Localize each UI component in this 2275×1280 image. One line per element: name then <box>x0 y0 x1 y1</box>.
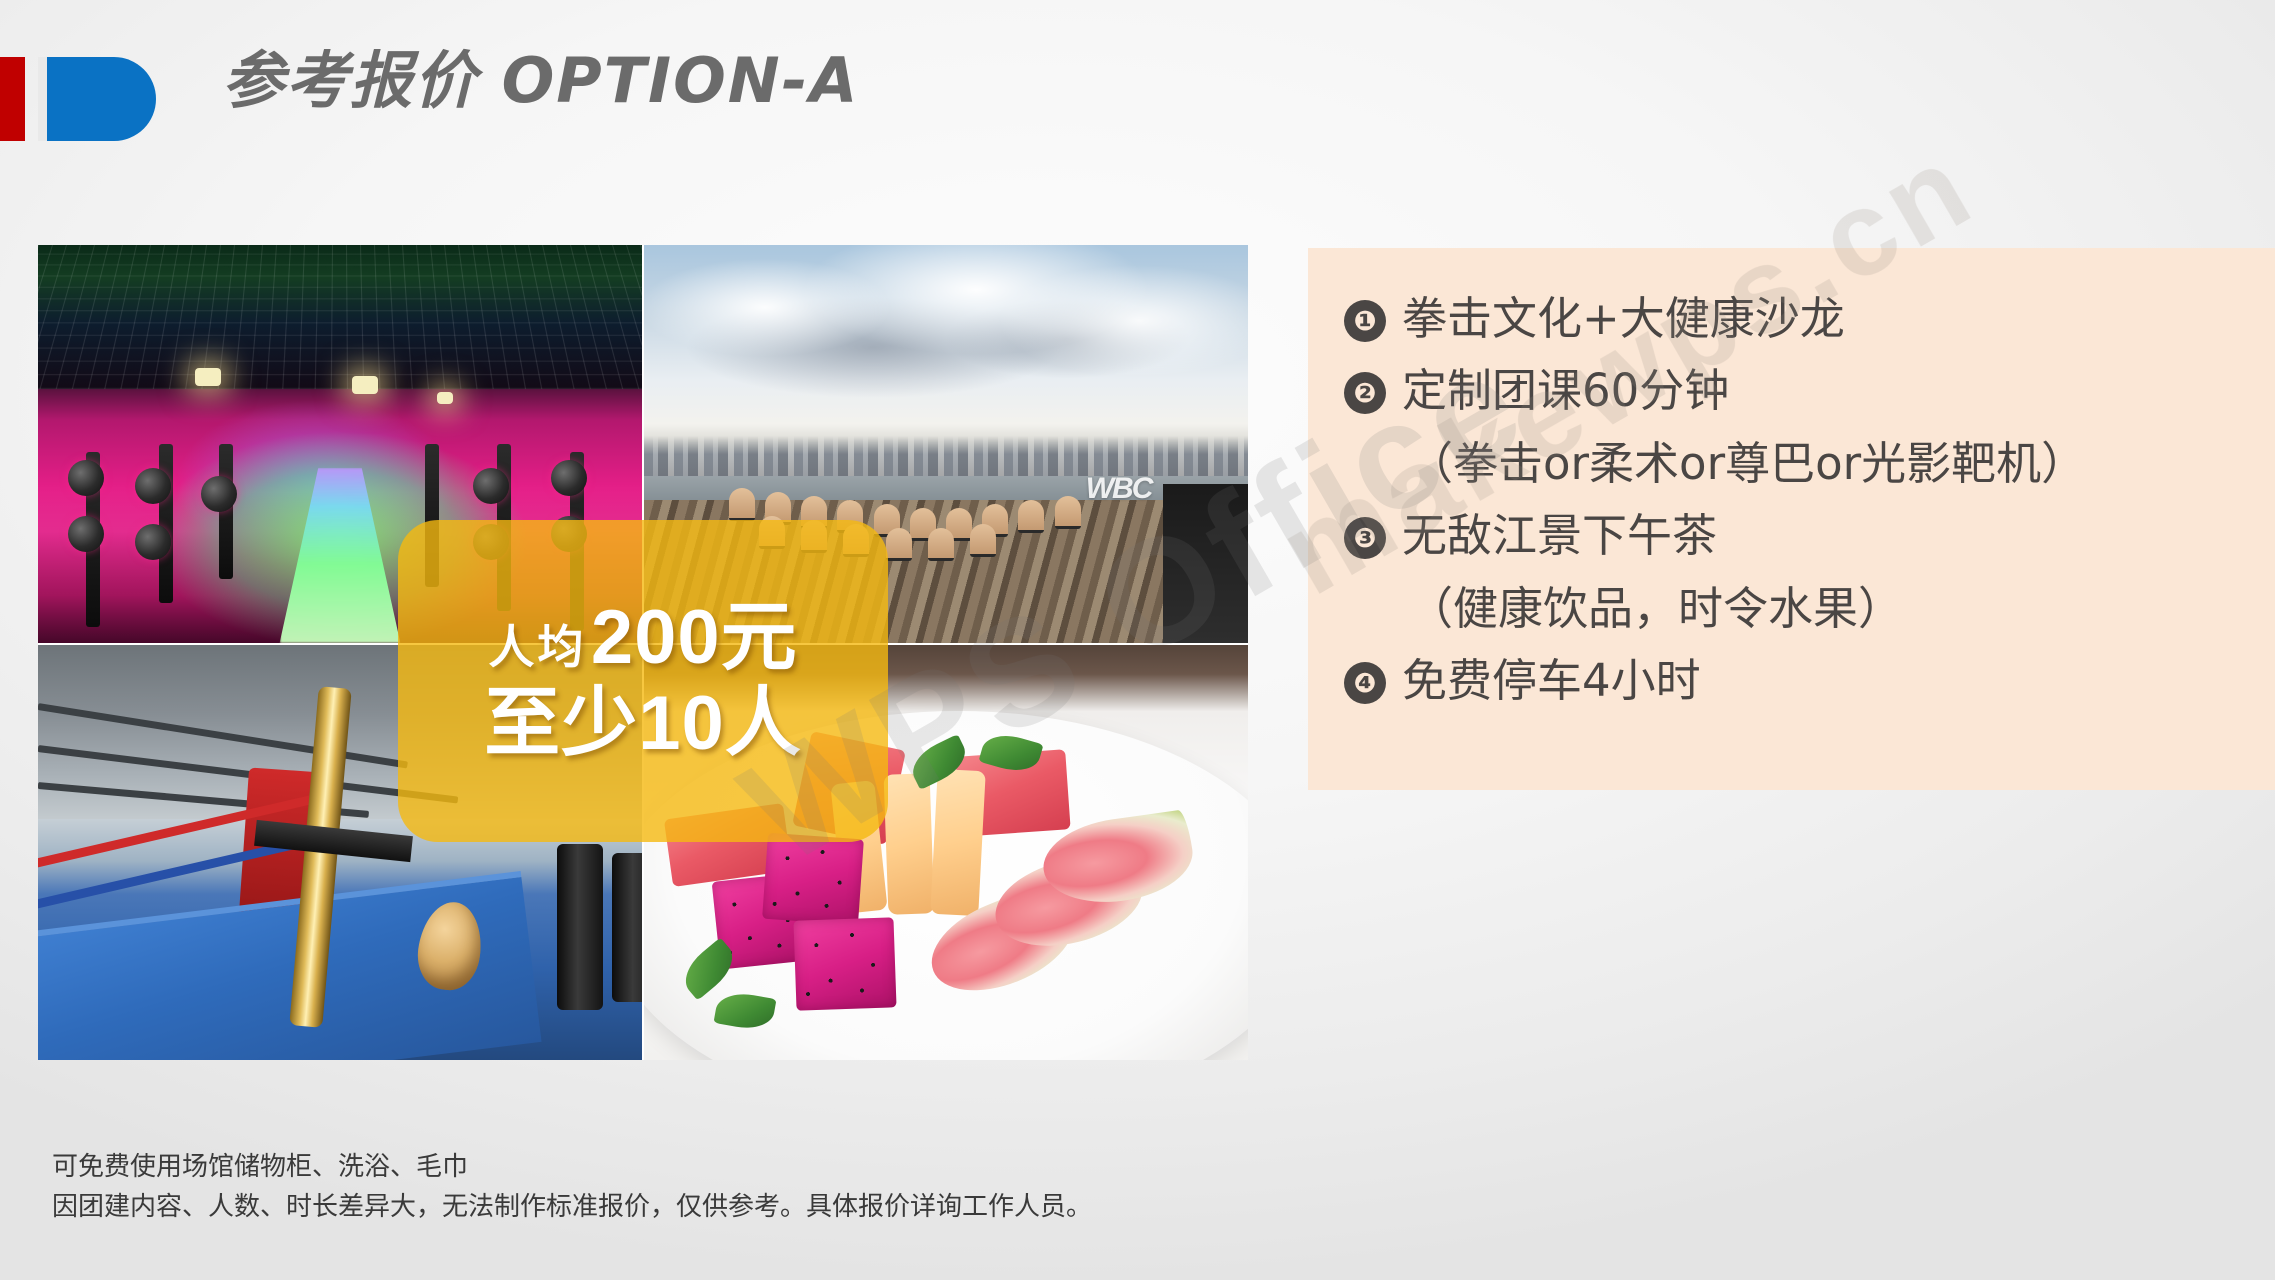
feature-subitem: （健康饮品，时令水果） <box>1344 584 2275 634</box>
terrace-chair <box>928 528 954 561</box>
price-line-per-person: 人均 200元 <box>488 600 797 676</box>
gym-weight-plate <box>135 468 171 504</box>
feature-item: ❸ 无敌江景下午茶 <box>1344 511 2275 561</box>
gym-spotlight <box>195 368 221 386</box>
heavy-bag <box>557 844 603 1010</box>
feature-sublabel: （健康饮品，时令水果） <box>1402 584 1903 634</box>
heavy-bag <box>612 853 642 1002</box>
logo-d-icon <box>38 57 156 141</box>
features-list: ❶ 拳击文化+大健康沙龙 ❷ 定制团课60分钟 （拳击or柔术or尊巴or光影靶… <box>1308 248 2275 706</box>
terrace-dark-panel <box>1163 484 1248 643</box>
gym-weight-plate <box>135 524 171 560</box>
feature-label: 免费停车4小时 <box>1402 656 1701 706</box>
feature-number-badge: ❶ <box>1344 300 1386 342</box>
logo-red-bar <box>0 57 25 141</box>
price-badge: 人均 200元 至少10人 <box>398 520 888 842</box>
feature-number-badge: ❷ <box>1344 372 1386 414</box>
price-min-people: 至少10人 <box>484 686 802 762</box>
gym-lit-runway <box>280 468 401 643</box>
dragon-fruit-cube <box>793 917 896 1010</box>
gym-weight-plate <box>68 460 104 496</box>
features-panel: ❶ 拳击文化+大健康沙龙 ❷ 定制团课60分钟 （拳击or柔术or尊巴or光影靶… <box>1308 248 2275 790</box>
footer-note-line-2: 因团建内容、人数、时长差异大，无法制作标准报价，仅供参考。具体报价详询工作人员。 <box>52 1188 1652 1228</box>
terrace-chair <box>970 524 996 557</box>
feature-label: 拳击文化+大健康沙龙 <box>1402 294 1845 344</box>
footer-note-line-1: 可免费使用场馆储物柜、洗浴、毛巾 <box>52 1148 1652 1188</box>
gym-weight-rack <box>159 444 173 603</box>
terrace-chair <box>729 488 755 521</box>
feature-item: ❹ 免费停车4小时 <box>1344 656 2275 706</box>
cantaloupe-stick <box>883 773 934 915</box>
gym-spotlight <box>352 376 378 394</box>
terrace-chair <box>1018 500 1044 533</box>
page-title: 参考报价 OPTION-A <box>222 30 859 120</box>
feature-label: 无敌江景下午茶 <box>1402 511 1717 561</box>
terrace-logo-sign: WBC <box>1086 472 1152 506</box>
gym-spotlight <box>437 392 453 404</box>
feature-sublabel: （拳击or柔术or尊巴or光影靶机） <box>1402 439 2086 489</box>
slide-header: 参考报价 OPTION-A <box>0 0 2275 190</box>
price-prefix: 人均 <box>488 621 586 673</box>
sky-clouds <box>644 245 1248 468</box>
terrace-chair <box>886 528 912 561</box>
feature-item: ❷ 定制团课60分钟 <box>1344 366 2275 416</box>
gym-weight-plate <box>201 476 237 512</box>
feature-label: 定制团课60分钟 <box>1402 366 1729 416</box>
gym-ceiling-grid <box>38 245 642 389</box>
feature-number-badge: ❸ <box>1344 517 1386 559</box>
logo-d-notch <box>38 57 47 141</box>
terrace-chair <box>1055 496 1081 529</box>
feature-item: ❶ 拳击文化+大健康沙龙 <box>1344 294 2275 344</box>
dragon-fruit-cube <box>762 833 864 925</box>
feature-subitem: （拳击or柔术or尊巴or光影靶机） <box>1344 439 2275 489</box>
gym-weight-plate <box>68 516 104 552</box>
cantaloupe-stick <box>930 768 986 915</box>
gym-weight-plate <box>473 468 509 504</box>
footer-notes: 可免费使用场馆储物柜、洗浴、毛巾 因团建内容、人数、时长差异大，无法制作标准报价… <box>52 1148 1652 1227</box>
price-amount: 200元 <box>591 595 798 680</box>
feature-number-badge: ❹ <box>1344 662 1386 704</box>
